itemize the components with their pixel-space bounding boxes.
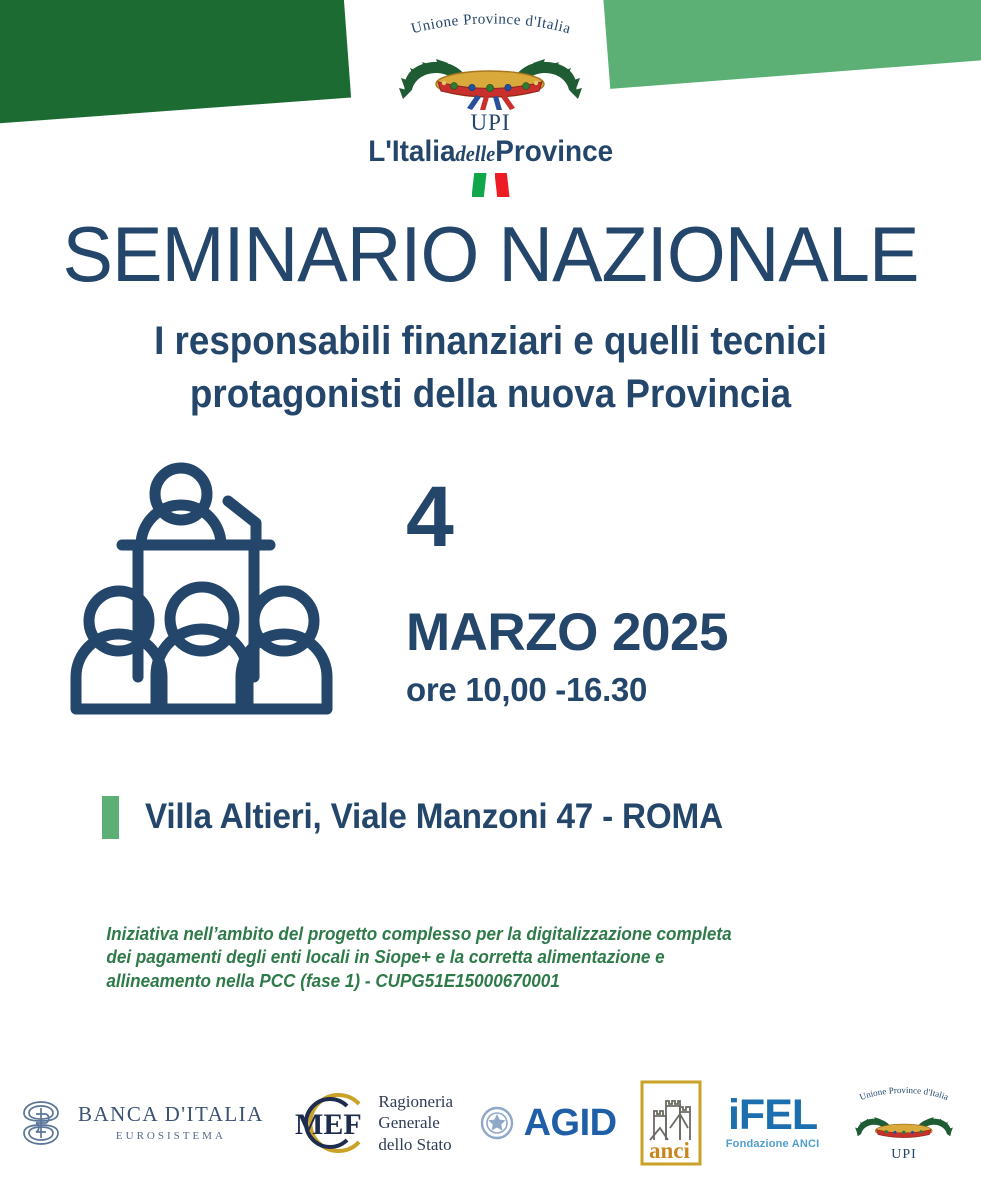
venue-accent-bar [102,796,119,839]
project-note-line-3: allineamento nella PCC (fase 1) - CUPG51… [106,970,932,994]
seminar-podium-audience-icon [62,459,362,734]
logo-agid: AGID [477,1101,617,1145]
event-hours: ore 10,00 -16.30 [406,673,728,706]
upi-footer-name: UPI [891,1147,917,1163]
upi-arc-label: Unione Province d'Italia [409,12,572,38]
repubblica-italiana-emblem-icon [477,1101,517,1145]
event-month-year: MARZO 2025 [406,606,728,659]
mef-text: Ragioneria Generale dello Stato [378,1091,453,1155]
event-venue: Villa Altieri, Viale Manzoni 47 - ROMA [0,796,981,839]
banca-ditalia-subtitle: EUROSISTEMA [78,1130,264,1142]
mef-line-2: Generale [378,1112,453,1133]
banca-ditalia-text: BANCA D'ITALIA EUROSISTEMA [78,1104,264,1142]
subtitle-line-1: I responsabili finanziari e quelli tecni… [39,315,942,368]
project-note-line-1: Iniziativa nell’ambito del progetto comp… [106,923,932,947]
logo-mef: MEF Ragioneria Generale dello Stato [287,1090,453,1156]
svg-text:Unione Province d'Italia: Unione Province d'Italia [409,12,572,38]
upi-footer-arc-label: Unione Province d'Italia [858,1084,950,1101]
mef-acronym: MEF [295,1108,362,1141]
event-date-block: 4 MARZO 2025 ore 10,00 -16.30 [406,459,728,707]
upi-footer-emblem-icon [848,1110,960,1146]
anci-emblem-icon: anci [640,1080,702,1166]
event-details-row: 4 MARZO 2025 ore 10,00 -16.30 [0,459,981,734]
mef-line-3: dello Stato [378,1134,453,1155]
mef-line-1: Ragioneria [378,1091,453,1112]
upi-emblem-icon [388,48,593,110]
agid-name: AGID [524,1104,617,1142]
logo-anci: anci [640,1080,702,1166]
page-title: SEMINARIO NAZIONALE [15,215,967,293]
logo-ifel: iFEL Fondazione ANCI [726,1096,820,1151]
event-day: 4 [406,477,728,559]
poster-root: Unione Province d'Italia [0,0,981,1200]
ifel-name: iFEL [728,1096,817,1135]
page-subtitle: I responsabili finanziari e quelli tecni… [39,315,942,421]
flag-red-shape [495,173,510,197]
subtitle-line-2: protagonisti della nuova Provincia [39,368,942,421]
upi-footer-arc-text: Unione Province d'Italia [843,1084,965,1110]
banca-ditalia-name: BANCA D'ITALIA [78,1104,264,1125]
logo-banca-ditalia: BANCA D'ITALIA EUROSISTEMA [14,1094,264,1152]
tagline-italic: delle [455,141,495,166]
project-note-line-2: dei pagamenti degli enti locali in Siope… [106,946,932,970]
upi-acronym: UPI [470,111,510,134]
project-note: Iniziativa nell’ambito del progetto comp… [0,923,932,994]
venue-text: Villa Altieri, Viale Manzoni 47 - ROMA [145,797,723,837]
upi-logo: Unione Province d'Italia [0,0,981,197]
logo-upi-footer: Unione Province d'Italia U [843,1084,965,1163]
mef-emblem-icon: MEF [287,1090,371,1156]
italian-flag-icon [472,173,510,197]
upi-tagline: L'ItaliadelleProvince [368,137,613,167]
partner-logos-row: BANCA D'ITALIA EUROSISTEMA MEF Ragioneri… [0,1080,981,1166]
tagline-part2: Province [495,135,613,168]
banca-ditalia-emblem-icon [14,1094,68,1152]
flag-green-shape [472,173,487,197]
ifel-subtitle: Fondazione ANCI [726,1138,820,1150]
svg-text:Unione Province d'Italia: Unione Province d'Italia [858,1084,950,1101]
anci-name: anci [649,1138,691,1163]
tagline-part1: L'Italia [368,135,455,168]
